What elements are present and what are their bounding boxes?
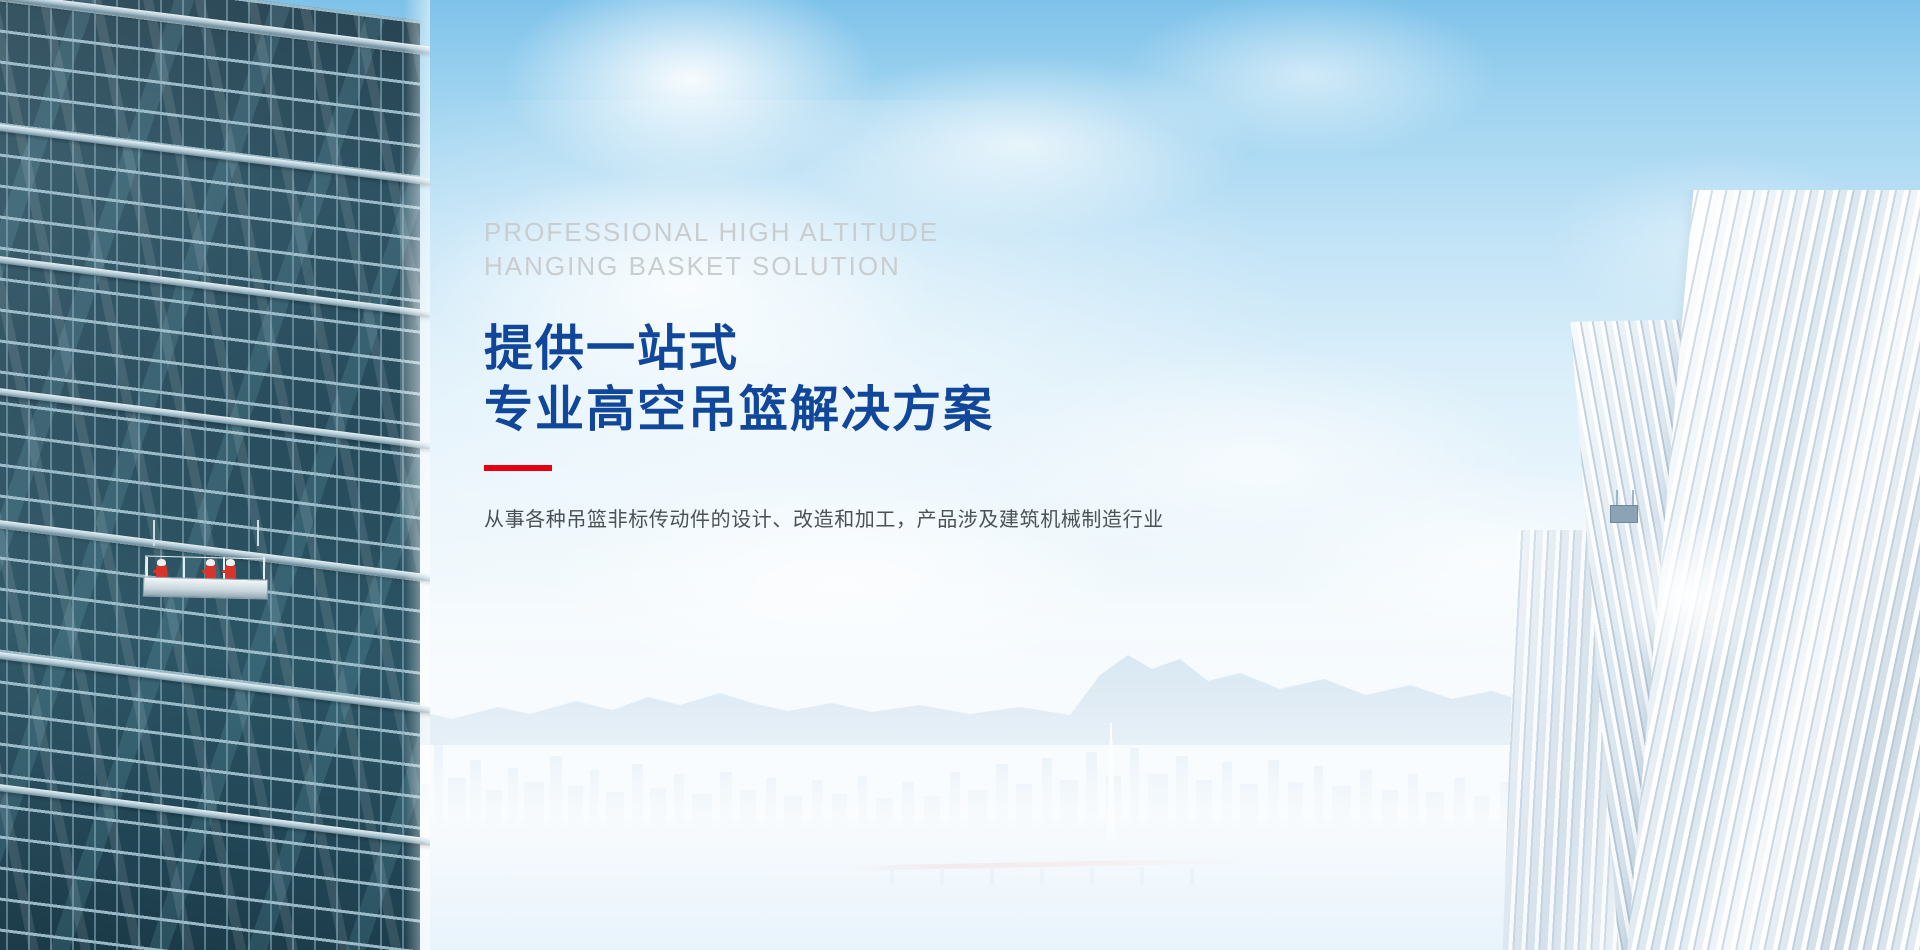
- hero-copy-block: PROFESSIONAL HIGH ALTITUDE HANGING BASKE…: [484, 215, 1244, 535]
- antenna-tower: [1100, 730, 1122, 850]
- left-glass-tower: [0, 0, 430, 950]
- bridge: [850, 862, 1240, 892]
- secondary-gondola: [1606, 490, 1640, 530]
- red-accent-divider: [484, 465, 552, 471]
- cloud-shape: [430, 0, 950, 230]
- hero-banner: PROFESSIONAL HIGH ALTITUDE HANGING BASKE…: [0, 0, 1920, 950]
- cloud-shape: [1050, 0, 1570, 190]
- right-modern-tower: [1490, 190, 1920, 950]
- hero-eyebrow-english: PROFESSIONAL HIGH ALTITUDE HANGING BASKE…: [484, 215, 1244, 283]
- suspended-gondola: [143, 520, 268, 606]
- worker-figure: [205, 558, 216, 580]
- worker-figure: [225, 558, 236, 580]
- hero-headline-chinese: 提供一站式 专业高空吊篮解决方案: [484, 319, 1244, 441]
- hero-subcopy-chinese: 从事各种吊篮非标传动件的设计、改造和加工，产品涉及建筑机械制造行业: [484, 505, 1244, 535]
- city-skyline: [370, 680, 1570, 830]
